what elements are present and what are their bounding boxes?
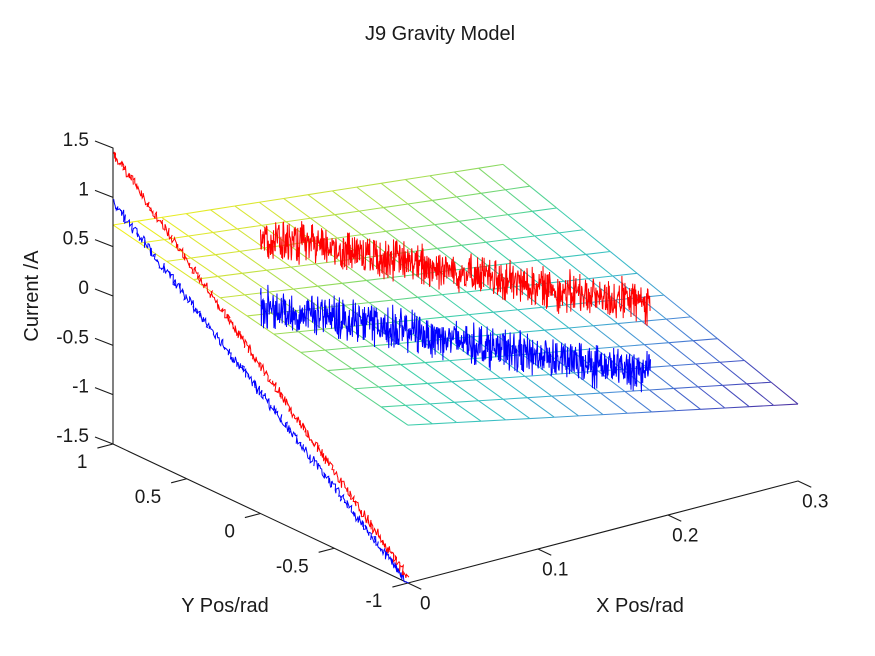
svg-text:0.3: 0.3	[802, 491, 828, 512]
svg-text:-1: -1	[72, 377, 89, 398]
svg-text:0.1: 0.1	[542, 559, 568, 580]
svg-text:0.2: 0.2	[672, 525, 698, 546]
svg-text:-1.5: -1.5	[56, 426, 89, 447]
data-traces	[114, 152, 651, 583]
svg-text:-0.5: -0.5	[56, 327, 89, 348]
matlab-figure-canvas: 00.10.20.3-1-0.500.51-1.5-1-0.500.511.5X…	[0, 0, 875, 656]
svg-text:-1: -1	[365, 591, 382, 612]
svg-text:0.5: 0.5	[63, 229, 89, 250]
z-axis-title: Current /A	[21, 250, 43, 342]
figure-title: J9 Gravity Model	[365, 23, 515, 45]
lower-current-trace-curtain	[114, 199, 409, 583]
axes-group	[95, 141, 811, 589]
svg-text:0: 0	[420, 593, 431, 614]
svg-text:0.5: 0.5	[135, 487, 161, 508]
mesh-surface	[113, 164, 798, 425]
axis-text-group: 00.10.20.3-1-0.500.51-1.5-1-0.500.511.5X…	[21, 23, 828, 617]
plot-svg: 00.10.20.3-1-0.500.51-1.5-1-0.500.511.5X…	[0, 0, 875, 656]
svg-text:0: 0	[78, 278, 89, 299]
svg-text:1: 1	[78, 179, 89, 200]
svg-text:0: 0	[224, 522, 235, 543]
y-axis-title: Y Pos/rad	[181, 595, 268, 617]
x-axis-title: X Pos/rad	[596, 595, 684, 617]
svg-text:-0.5: -0.5	[276, 556, 309, 577]
svg-text:1: 1	[77, 452, 88, 473]
svg-text:1.5: 1.5	[63, 130, 89, 151]
